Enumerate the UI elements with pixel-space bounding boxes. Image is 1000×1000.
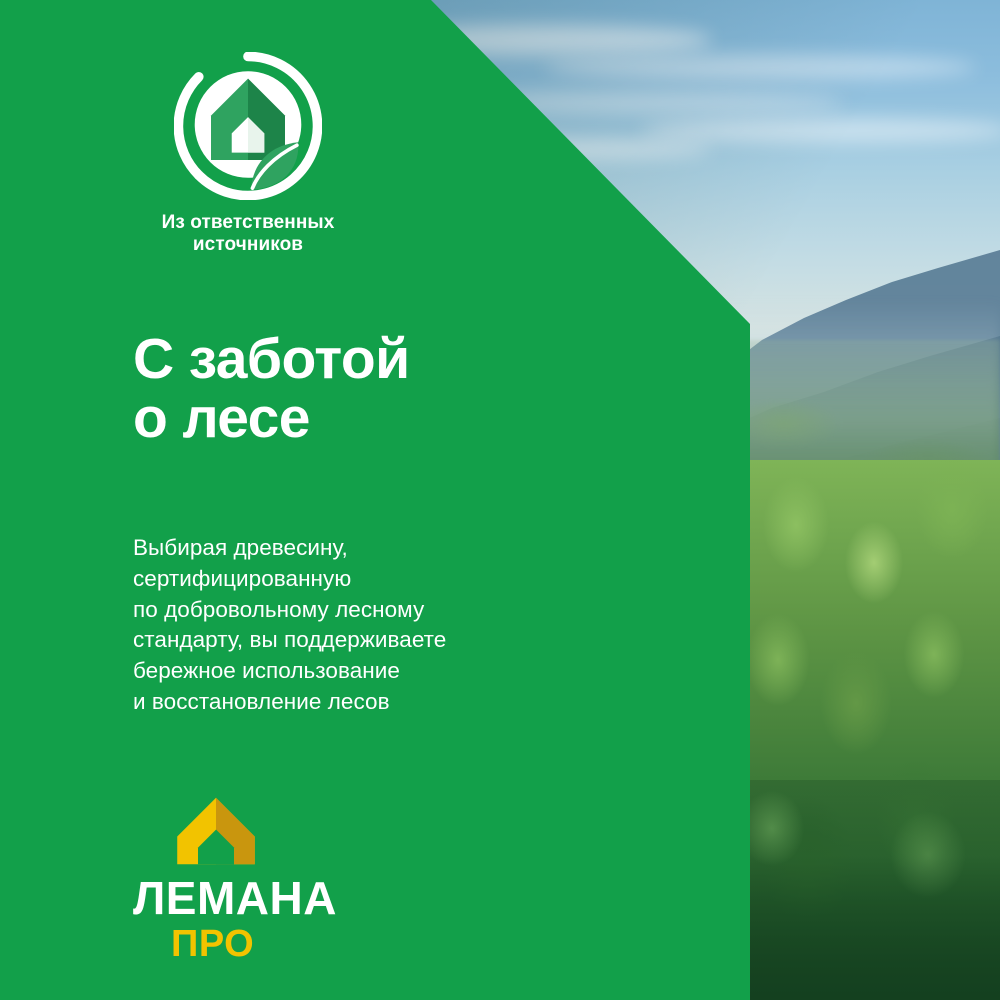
headline-line-2: о лесе — [133, 389, 410, 448]
emblem-caption-line-2: источников — [133, 234, 363, 256]
poster-root: Из ответственных источников С заботой о … — [0, 0, 1000, 1000]
body-line-4: стандарту, вы поддерживаете — [133, 625, 446, 656]
brand-name: ЛЕМАНА — [133, 875, 373, 921]
house-roof-icon — [174, 795, 258, 867]
headline-line-1: С заботой — [133, 330, 410, 389]
brand-logo: ЛЕМАНА ПРО — [133, 795, 373, 963]
emblem-caption: Из ответственных источников — [133, 212, 363, 257]
body-line-1: Выбирая древесину, — [133, 533, 446, 564]
responsible-sources-emblem: Из ответственных источников — [133, 52, 363, 257]
body-line-6: и восстановление лесов — [133, 687, 446, 718]
house-leaf-circle-icon — [174, 52, 322, 200]
emblem-caption-line-1: Из ответственных — [133, 212, 363, 234]
page-title: С заботой о лесе — [133, 330, 410, 447]
body-paragraph: Выбирая древесину, сертифицированную по … — [133, 533, 446, 718]
body-line-5: бережное использование — [133, 656, 446, 687]
body-line-2: сертифицированную — [133, 564, 446, 595]
body-line-3: по добровольному лесному — [133, 595, 446, 626]
brand-subname: ПРО — [171, 925, 373, 963]
